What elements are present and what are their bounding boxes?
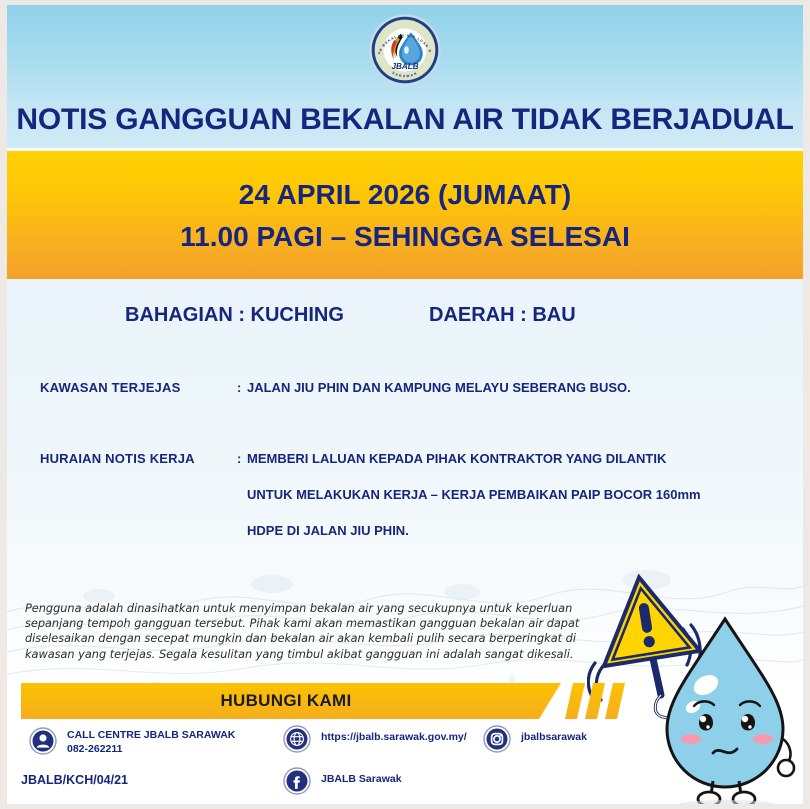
daerah-label: DAERAH : BAU [429, 304, 576, 327]
poster-body: BAHAGIAN : KUCHING DAERAH : BAU KAWASAN … [7, 279, 803, 804]
page-title: NOTIS GANGGUAN BEKALAN AIR TIDAK BERJADU… [7, 103, 803, 137]
facebook-handle: JBALB Sarawak [321, 773, 402, 787]
svg-text:JBALB: JBALB [391, 62, 418, 71]
instagram-icon [483, 725, 511, 753]
website-url: https://jbalb.sarawak.gov.my/ [321, 731, 467, 745]
globe-icon [283, 725, 311, 753]
call-centre-number: 082-262211 [67, 743, 122, 755]
huraian-line-3: HDPE DI JALAN JIU PHIN. [247, 523, 409, 538]
huraian-line-2: UNTUK MELAKUKAN KERJA – KERJA PEMBAIKAN … [247, 487, 701, 502]
kawasan-colon: : [237, 380, 241, 395]
contact-bar: HUBUNGI KAMI [7, 683, 803, 719]
facebook-icon [283, 767, 311, 795]
user-icon [29, 727, 57, 755]
bar-stripe-3 [605, 683, 627, 719]
bahagian-label: BAHAGIAN : KUCHING [125, 304, 344, 327]
reference-number: JBALB/KCH/04/21 [21, 773, 128, 787]
poster-header: JBALB JABATAN BEKALAN AIR LUAR BANDAR SA… [7, 5, 803, 148]
disclaimer-text: Pengguna adalah dinasihatkan untuk menyi… [25, 601, 585, 662]
huraian-label: HURAIAN NOTIS KERJA [40, 451, 195, 466]
jbalb-logo: JBALB JABATAN BEKALAN AIR LUAR BANDAR SA… [368, 13, 442, 87]
kawasan-label: KAWASAN TERJEJAS [40, 380, 180, 395]
kawasan-value: JALAN JIU PHIN DAN KAMPUNG MELAYU SEBERA… [247, 380, 631, 395]
huraian-line-1: MEMBERI LALUAN KEPADA PIHAK KONTRAKTOR Y… [247, 451, 666, 466]
notice-time: 11.00 PAGI – SEHINGGA SELESAI [7, 221, 803, 253]
notice-date: 24 APRIL 2026 (JUMAAT) [7, 179, 803, 211]
instagram-handle: jbalbsarawak [521, 731, 587, 745]
bar-stripe-2 [585, 683, 607, 719]
call-centre-name: CALL CENTRE JBALB SARAWAK [67, 729, 235, 741]
date-band: 24 APRIL 2026 (JUMAAT) 11.00 PAGI – SEHI… [7, 151, 803, 279]
notice-poster: JBALB JABATAN BEKALAN AIR LUAR BANDAR SA… [7, 5, 803, 804]
bar-stripe-1 [565, 683, 587, 719]
huraian-colon: : [237, 451, 241, 466]
call-centre-text: CALL CENTRE JBALB SARAWAK 082-262211 [67, 729, 235, 756]
contact-bar-label: HUBUNGI KAMI [21, 691, 551, 711]
